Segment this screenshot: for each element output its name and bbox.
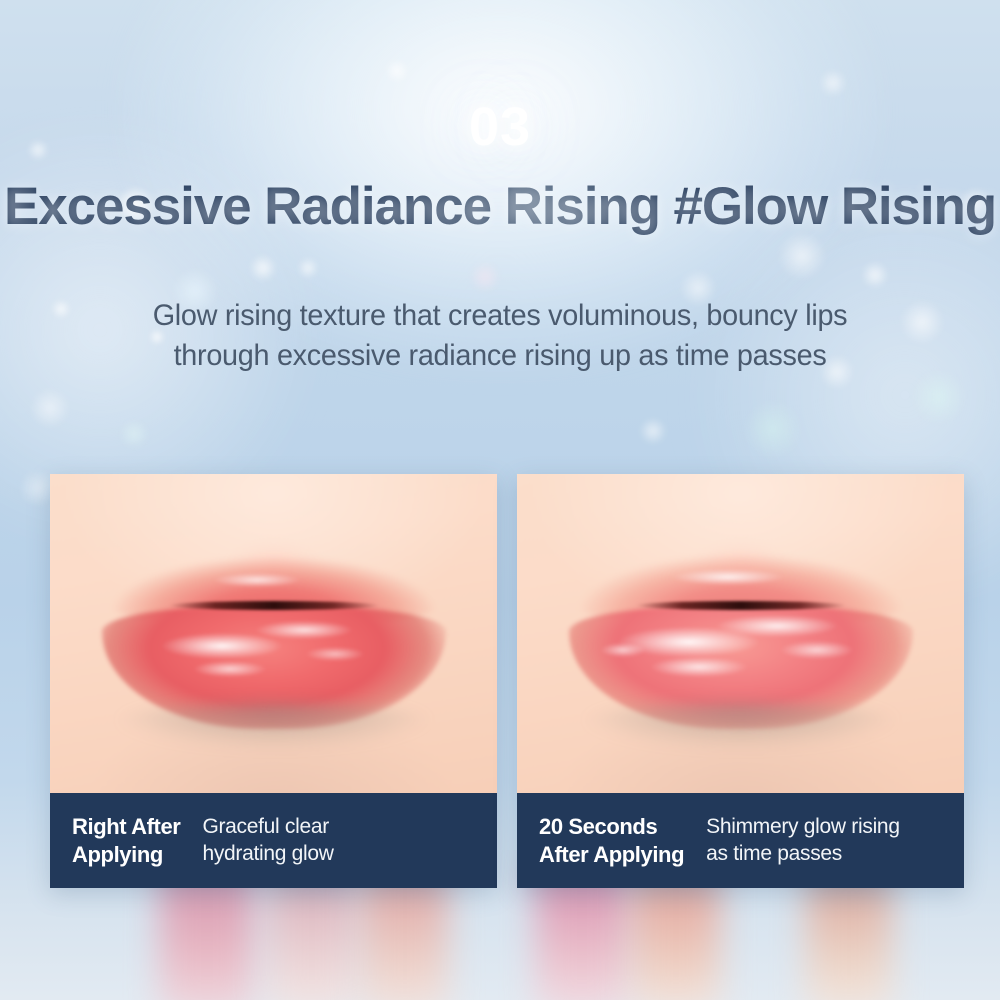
lip-gloss-highlight — [651, 657, 747, 677]
bokeh-circle — [298, 258, 318, 278]
lip-photo-right-after-applying — [50, 474, 497, 793]
bokeh-circle — [778, 232, 826, 280]
caption-desc-line-1: Shimmery glow rising — [706, 814, 900, 840]
lip-gloss-highlight — [673, 569, 783, 585]
bokeh-circle — [640, 418, 666, 444]
bokeh-circle — [862, 262, 888, 288]
caption-label-line-2: After Applying — [539, 841, 684, 869]
bokeh-circle — [820, 70, 846, 96]
lip-gloss-highlight — [162, 633, 282, 659]
lip-photo-20-seconds-after-applying — [517, 474, 964, 793]
bokeh-circle — [30, 388, 70, 428]
lips-illustration — [541, 515, 941, 765]
lip-gloss-highlight — [601, 643, 645, 657]
caption-desc-line-2: as time passes — [706, 841, 900, 867]
lip-gloss-highlight — [256, 621, 352, 639]
lips-illustration — [74, 515, 474, 765]
section-subtitle: Glow rising texture that creates volumin… — [20, 296, 980, 376]
mouth-line — [169, 601, 379, 610]
caption-label: Right After Applying — [72, 813, 180, 868]
comparison-panels: Right After Applying Graceful clear hydr… — [50, 474, 964, 888]
bokeh-circle — [912, 370, 966, 424]
caption-description: Shimmery glow rising as time passes — [706, 814, 900, 867]
bokeh-circle — [470, 262, 500, 292]
caption-label-line-1: Right After — [72, 813, 180, 841]
section-number: 03 — [0, 96, 1000, 158]
lip-gloss-highlight — [781, 641, 853, 659]
bokeh-circle — [386, 60, 408, 82]
chin-shadow — [109, 703, 439, 749]
caption-label: 20 Seconds After Applying — [539, 813, 684, 868]
lip-gloss-highlight — [214, 573, 300, 587]
caption-label-line-1: 20 Seconds — [539, 813, 684, 841]
caption-bar-20-seconds-after-applying: 20 Seconds After Applying Shimmery glow … — [517, 793, 964, 888]
bokeh-circle — [120, 420, 148, 448]
caption-desc-line-1: Graceful clear — [202, 814, 333, 840]
caption-label-line-2: Applying — [72, 841, 180, 869]
subtitle-line-1: Glow rising texture that creates volumin… — [20, 296, 980, 336]
bokeh-circle — [250, 255, 276, 281]
caption-description: Graceful clear hydrating glow — [202, 814, 333, 867]
lip-gloss-highlight — [717, 615, 837, 637]
subtitle-line-2: through excessive radiance rising up as … — [20, 336, 980, 376]
bokeh-circle — [744, 400, 802, 458]
lip-gloss-highlight — [306, 647, 364, 661]
lip-gloss-highlight — [194, 661, 266, 677]
page-title: Excessive Radiance Rising #Glow Rising — [0, 176, 1000, 237]
comparison-panel-20-seconds-after-applying: 20 Seconds After Applying Shimmery glow … — [517, 474, 964, 888]
caption-bar-right-after-applying: Right After Applying Graceful clear hydr… — [50, 793, 497, 888]
comparison-panel-right-after-applying: Right After Applying Graceful clear hydr… — [50, 474, 497, 888]
caption-desc-line-2: hydrating glow — [202, 841, 333, 867]
chin-shadow — [576, 703, 906, 749]
mouth-line — [636, 601, 846, 610]
